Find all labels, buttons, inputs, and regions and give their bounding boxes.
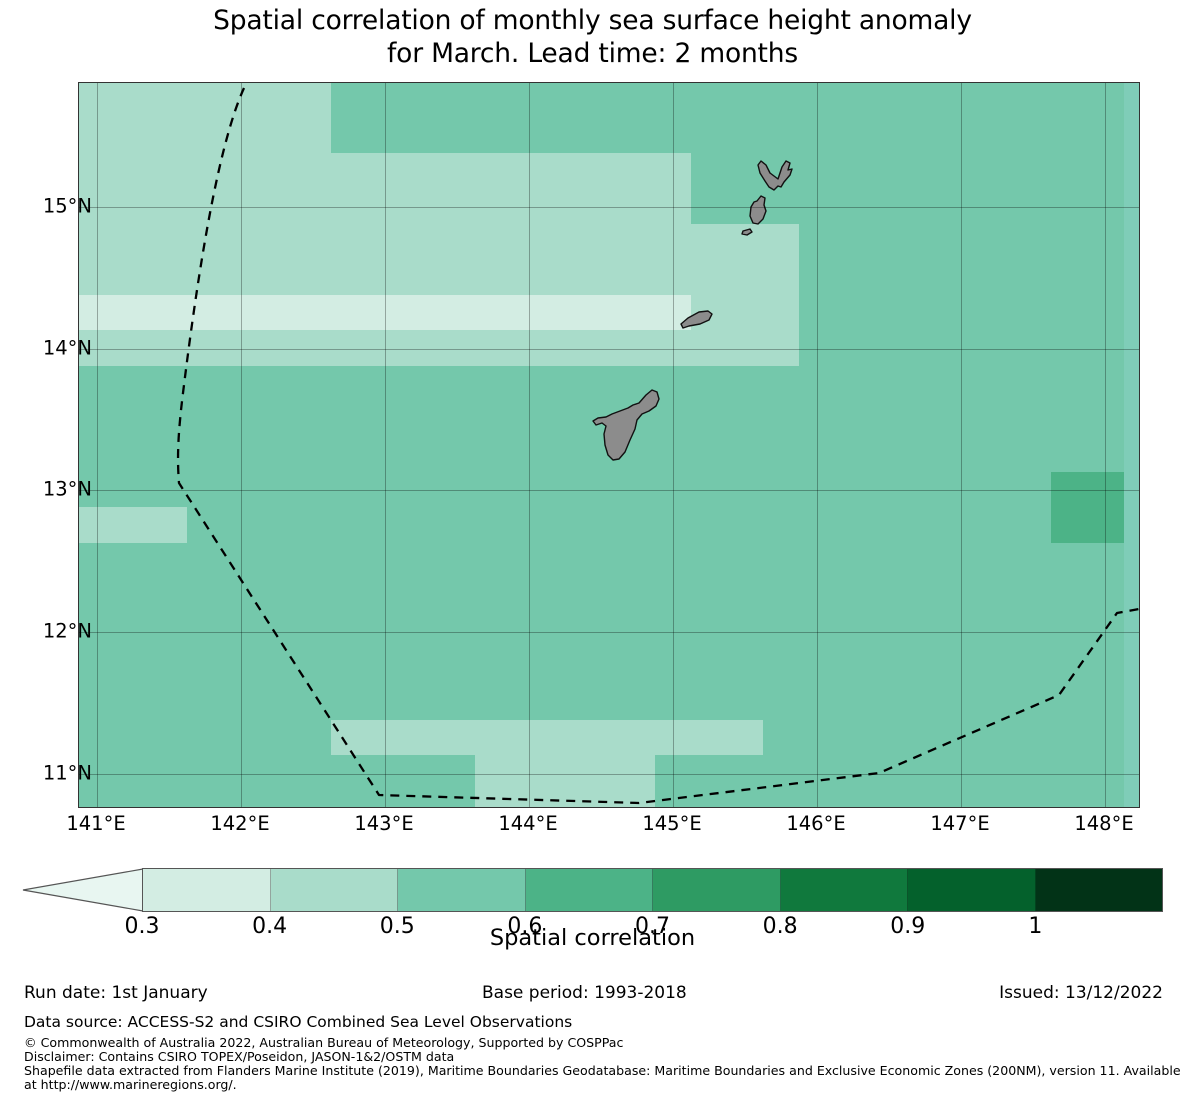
gridline-horizontal: [79, 490, 1139, 491]
x-axis-tick-label: 146°E: [746, 812, 886, 835]
y-axis-tick-label: 14°N: [0, 336, 92, 359]
land-polygons: [593, 161, 792, 460]
issued-date: Issued: 13/12/2022: [999, 983, 1163, 1003]
y-axis-tick-label: 11°N: [0, 761, 92, 784]
colorbar-band: [143, 869, 271, 911]
gridline-horizontal: [79, 349, 1139, 350]
x-axis-tick-label: 143°E: [314, 812, 454, 835]
gridline-vertical: [1105, 83, 1106, 807]
island-saipan: [758, 161, 792, 190]
shapefile-credit-line-2: at http://www.marineregions.org/.: [24, 1078, 237, 1092]
data-source-text: Data source: ACCESS-S2 and CSIRO Combine…: [24, 1013, 572, 1031]
colorbar-under-arrow: [22, 868, 143, 912]
island-guam: [593, 390, 659, 460]
metadata-row: Run date: 1st January Base period: 1993-…: [0, 983, 1185, 1005]
colorbar-band: [271, 869, 399, 911]
gridline-horizontal: [79, 774, 1139, 775]
colorbar-band: [653, 869, 781, 911]
chart-title: Spatial correlation of monthly sea surfa…: [0, 4, 1185, 70]
gridline-horizontal: [79, 632, 1139, 633]
gridline-vertical: [241, 83, 242, 807]
map-overlay-layer: [79, 83, 1140, 808]
gridline-vertical: [961, 83, 962, 807]
y-axis-tick-label: 13°N: [0, 478, 92, 501]
colorbar-bands: [142, 868, 1163, 912]
colorbar-band: [781, 869, 909, 911]
y-axis-tick-label: 15°N: [0, 195, 92, 218]
colorbar-band: [908, 869, 1036, 911]
gridline-horizontal: [79, 207, 1139, 208]
gridline-vertical: [97, 83, 98, 807]
gridline-vertical: [673, 83, 674, 807]
island-aguijan: [742, 229, 752, 235]
run-date: Run date: 1st January: [24, 983, 208, 1003]
x-axis-tick-label: 142°E: [170, 812, 310, 835]
x-axis-tick-label: 144°E: [458, 812, 598, 835]
eez-boundary-line: [178, 88, 1139, 803]
island-rota: [681, 311, 712, 328]
gridline-vertical: [529, 83, 530, 807]
x-axis-tick-label: 141°E: [26, 812, 166, 835]
x-axis-tick-label: 145°E: [602, 812, 742, 835]
gridline-vertical: [817, 83, 818, 807]
colorbar-band: [398, 869, 526, 911]
colorbar-band: [1036, 869, 1163, 911]
x-axis-tick-label: 147°E: [890, 812, 1030, 835]
base-period: Base period: 1993-2018: [482, 983, 687, 1003]
y-axis-tick-label: 12°N: [0, 619, 92, 642]
x-axis-tick-label: 148°E: [1034, 812, 1174, 835]
map-plot-area: [78, 82, 1140, 808]
gridline-vertical: [385, 83, 386, 807]
colorbar: 0.30.40.50.60.70.80.91: [0, 868, 1185, 914]
colorbar-band: [526, 869, 654, 911]
island-tinian: [750, 196, 766, 224]
colorbar-label: Spatial correlation: [0, 925, 1185, 951]
